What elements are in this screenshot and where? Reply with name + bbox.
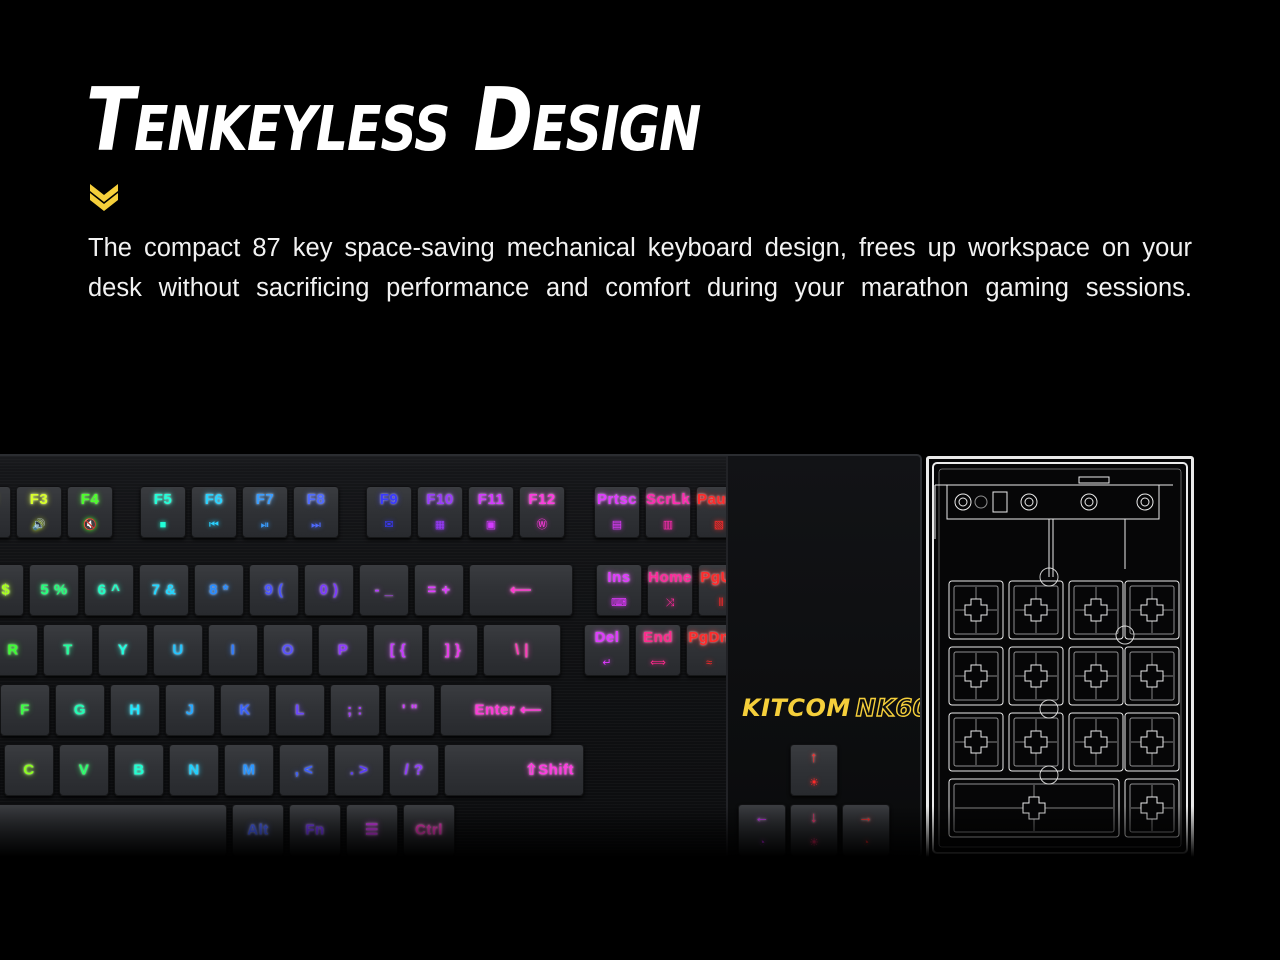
keycap-legend: P	[319, 643, 367, 658]
keycap-legend: U	[154, 643, 202, 658]
keycap[interactable]: U	[153, 624, 203, 676]
keycap[interactable]: Prtsc▤	[594, 486, 640, 538]
keycap-legend: F10	[418, 492, 462, 507]
keycap[interactable]: ; :	[330, 684, 380, 736]
keyboard-row-bottom-row: AltAltFn☰Ctrl	[0, 804, 460, 856]
keycap-secondary-legend: ▥	[646, 520, 690, 531]
keycap-legend: . >	[335, 763, 383, 778]
keycap-legend: R	[0, 643, 37, 658]
key-cluster-gap	[118, 486, 140, 538]
keycap-secondary-legend: ◔	[739, 838, 785, 849]
keycap-secondary-legend: ■	[141, 520, 185, 531]
keycap[interactable]: F6⏮	[191, 486, 237, 538]
keycap[interactable]: ☰	[346, 804, 398, 856]
keycap-legend: ←	[739, 810, 785, 825]
keycap[interactable]: Fn	[289, 804, 341, 856]
keycap[interactable]: F4🔇	[67, 486, 113, 538]
keycap-legend: F9	[367, 492, 411, 507]
arrow-keycap[interactable]: ←◔	[738, 804, 786, 856]
keycap-legend: N	[170, 763, 218, 778]
keycap-legend: ⟵	[470, 583, 572, 598]
keycap-legend: F8	[294, 492, 338, 507]
keycap[interactable]: 0 )	[304, 564, 354, 616]
keycap-legend: H	[111, 703, 159, 718]
keycap[interactable]: F	[0, 684, 50, 736]
keycap-legend: M	[225, 763, 273, 778]
keycap-secondary-legend: ✉	[367, 520, 411, 531]
keycap-legend: 5 %	[30, 583, 78, 598]
keyboard-photo: F1⬛F2🔉F3🔊F4🔇F5■F6⏮F7⏯F8⏭F9✉F10▦F11▣F12ⓌP…	[0, 454, 922, 858]
keycap-legend: J	[166, 703, 214, 718]
keycap[interactable]: Alt	[232, 804, 284, 856]
keycap[interactable]: T	[43, 624, 93, 676]
keycap-legend: 8 *	[195, 583, 243, 598]
keycap-legend: 0 )	[305, 583, 353, 598]
keycap-legend: →	[843, 810, 889, 825]
keycap[interactable]: H	[110, 684, 160, 736]
keycap-secondary-legend: 🔉	[0, 520, 10, 531]
arrow-keycap[interactable]: ↑☀	[790, 744, 838, 796]
keycap-legend: F2	[0, 492, 10, 507]
keycap-legend: F11	[469, 492, 513, 507]
key-cluster-gap	[344, 486, 366, 538]
keycap[interactable]: P	[318, 624, 368, 676]
keycap[interactable]: F3🔊	[16, 486, 62, 538]
keycap[interactable]: / ?	[389, 744, 439, 796]
keycap[interactable]: 4 $	[0, 564, 24, 616]
keycap-legend: , <	[280, 763, 328, 778]
keycap-secondary-legend: 🔇	[68, 520, 112, 531]
keycap-legend: F3	[17, 492, 61, 507]
keycap[interactable]: F8⏭	[293, 486, 339, 538]
keycap[interactable]: Ctrl	[403, 804, 455, 856]
keycap-legend: ↓	[791, 810, 837, 825]
keycap-legend: ; :	[331, 703, 379, 718]
keycap[interactable]: R	[0, 624, 38, 676]
key-cluster-gap	[570, 486, 594, 538]
keycap-legend: Home	[648, 570, 692, 585]
arrow-keycap[interactable]: ↓☀	[790, 804, 838, 856]
keycap[interactable]: V	[59, 744, 109, 796]
keycap[interactable]: \ |	[483, 624, 561, 676]
keycap-secondary-legend: 🔊	[17, 520, 61, 531]
keycap-secondary-legend: ◔	[843, 838, 889, 849]
keycap-legend: 7 &	[140, 583, 188, 598]
keycap-legend: F5	[141, 492, 185, 507]
keycap-legend: Alt	[233, 823, 283, 838]
keycap-secondary-legend: ▣	[469, 520, 513, 531]
keycap[interactable]: C	[4, 744, 54, 796]
keycap[interactable]: L	[275, 684, 325, 736]
keycap[interactable]: B	[114, 744, 164, 796]
keycap-legend: Y	[99, 643, 147, 658]
keyboard-row-shift-row: ZXCVBNM, <. >/ ?⇧Shift	[0, 744, 589, 796]
keycap[interactable]: ' "	[385, 684, 435, 736]
keycap-legend: Prtsc	[595, 492, 639, 507]
keycap[interactable]: Enter ⟵	[440, 684, 552, 736]
keycap[interactable]: ] }	[428, 624, 478, 676]
keycap-legend: F7	[243, 492, 287, 507]
key-cluster-gap	[578, 564, 596, 616]
keycap-legend: K	[221, 703, 269, 718]
keycap[interactable]: F7⏯	[242, 486, 288, 538]
keycap-legend: 9 (	[250, 583, 298, 598]
brand-logo: KITCOMNK60T	[742, 694, 922, 722]
keycap-legend: Fn	[290, 823, 340, 838]
keycap-secondary-legend: Ⓦ	[520, 520, 564, 531]
keycap[interactable]: Ins⌨	[596, 564, 642, 616]
keycap[interactable]: N	[169, 744, 219, 796]
keycap-legend: Del	[585, 630, 629, 645]
keycap[interactable]: F10▦	[417, 486, 463, 538]
keyboard-nav-panel: KITCOMNK60T ↑☀←◔↓☀→◔	[726, 456, 920, 856]
keyboard-row-function-row: F1⬛F2🔉F3🔊F4🔇F5■F6⏮F7⏯F8⏭F9✉F10▦F11▣F12ⓌP…	[0, 486, 747, 538]
keycap-legend: B	[115, 763, 163, 778]
keycap-secondary-legend: ⟺	[636, 658, 680, 669]
keycap-legend: C	[5, 763, 53, 778]
keycap-legend: F	[1, 703, 49, 718]
keycap-legend: ☰	[347, 823, 397, 838]
keycap[interactable]: 8 *	[194, 564, 244, 616]
keycap-secondary-legend: ≈	[687, 658, 731, 669]
keycap-legend: ↑	[791, 750, 837, 765]
model-name: NK60T	[856, 694, 922, 722]
keycap-legend: End	[636, 630, 680, 645]
keycap-secondary-legend: ☀	[791, 838, 837, 849]
keycap-legend: I	[209, 643, 257, 658]
keycap[interactable]: F2🔉	[0, 486, 11, 538]
page-title: Tenkeyless Design	[86, 78, 700, 164]
keycap[interactable]: F5■	[140, 486, 186, 538]
keycap-legend: Enter ⟵	[441, 703, 551, 718]
arrow-keycap[interactable]: →◔	[842, 804, 890, 856]
keycap-secondary-legend: ⌨	[597, 598, 641, 609]
keycap[interactable]: Home⤨	[647, 564, 693, 616]
keycap-legend: F12	[520, 492, 564, 507]
keycap[interactable]: J	[165, 684, 215, 736]
keycap-legend: - _	[360, 583, 408, 598]
hero-image-strip: F1⬛F2🔉F3🔊F4🔇F5■F6⏮F7⏯F8⏭F9✉F10▦F11▣F12ⓌP…	[0, 452, 1280, 864]
keycap[interactable]: [ {	[373, 624, 423, 676]
keycap[interactable]: G	[55, 684, 105, 736]
keycap[interactable]: 7 &	[139, 564, 189, 616]
keycap-secondary-legend: ⤨	[648, 598, 692, 609]
keycap-legend: O	[264, 643, 312, 658]
keycap[interactable]: End⟺	[635, 624, 681, 676]
switch-plate-blueprint	[926, 456, 1194, 860]
keycap[interactable]: 9 (	[249, 564, 299, 616]
keycap[interactable]: - _	[359, 564, 409, 616]
keycap-secondary-legend: ⏭	[294, 520, 338, 531]
keycap[interactable]: Y	[98, 624, 148, 676]
keycap-legend: T	[44, 643, 92, 658]
keycap-legend: 4 $	[0, 583, 23, 598]
keycap[interactable]	[0, 804, 227, 856]
keycap[interactable]: . >	[334, 744, 384, 796]
keycap-secondary-legend: ▦	[418, 520, 462, 531]
keycap[interactable]: O	[263, 624, 313, 676]
keycap-legend: V	[60, 763, 108, 778]
keycap-secondary-legend: ⏯	[243, 520, 287, 531]
keyboard-row-qwerty-row: WERTYUIOP[ {] }\ |Del↵End⟺PgDn≈	[0, 624, 737, 676]
keycap-legend: / ?	[390, 763, 438, 778]
keycap[interactable]: I	[208, 624, 258, 676]
keycap-legend: = +	[415, 583, 463, 598]
keycap[interactable]: M	[224, 744, 274, 796]
keycap-legend: L	[276, 703, 324, 718]
product-feature-slide: Tenkeyless Design The compact 87 key spa…	[0, 0, 1280, 960]
keycap[interactable]: = +	[414, 564, 464, 616]
keycap[interactable]: F12Ⓦ	[519, 486, 565, 538]
keycap[interactable]: , <	[279, 744, 329, 796]
double-chevron-down-icon	[88, 183, 122, 211]
keycap[interactable]: K	[220, 684, 270, 736]
keycap-secondary-legend: ▤	[595, 520, 639, 531]
keycap-legend: 6 ^	[85, 583, 133, 598]
keycap[interactable]: ⇧Shift	[444, 744, 584, 796]
keycap-legend: ] }	[429, 643, 477, 658]
keycap-legend: Ins	[597, 570, 641, 585]
keycap[interactable]: F9✉	[366, 486, 412, 538]
keycap-legend: F4	[68, 492, 112, 507]
keycap-legend: ⇧Shift	[445, 763, 583, 778]
keycap-legend: ' "	[386, 703, 434, 718]
keycap-secondary-legend: ⏮	[192, 520, 236, 531]
keycap-legend: [ {	[374, 643, 422, 658]
brand-name: KITCOM	[742, 694, 851, 722]
keycap[interactable]: F11▣	[468, 486, 514, 538]
keycap-legend: ScrLk	[646, 492, 690, 507]
keycap[interactable]: 5 %	[29, 564, 79, 616]
keycap-legend: Ctrl	[404, 823, 454, 838]
keycap[interactable]: 6 ^	[84, 564, 134, 616]
keycap-legend: \ |	[484, 643, 560, 658]
keycap-legend: F6	[192, 492, 236, 507]
keycap-secondary-legend: ↵	[585, 658, 629, 669]
keycap[interactable]: ⟵	[469, 564, 573, 616]
keycap-legend: PgDn	[687, 630, 731, 645]
key-cluster-gap	[566, 624, 584, 676]
keycap-secondary-legend: ☀	[791, 778, 837, 789]
keycap[interactable]: Del↵	[584, 624, 630, 676]
feature-description: The compact 87 key space-saving mechanic…	[88, 228, 1192, 348]
keyboard-row-number-row: 2 @3 #4 $5 %6 ^7 &8 *9 (0 )- _= +⟵Ins⌨Ho…	[0, 564, 749, 616]
keyboard-row-home-row: SDFGHJKL; :' "Enter ⟵	[0, 684, 557, 736]
keycap[interactable]: ScrLk▥	[645, 486, 691, 538]
keycap-legend: G	[56, 703, 104, 718]
